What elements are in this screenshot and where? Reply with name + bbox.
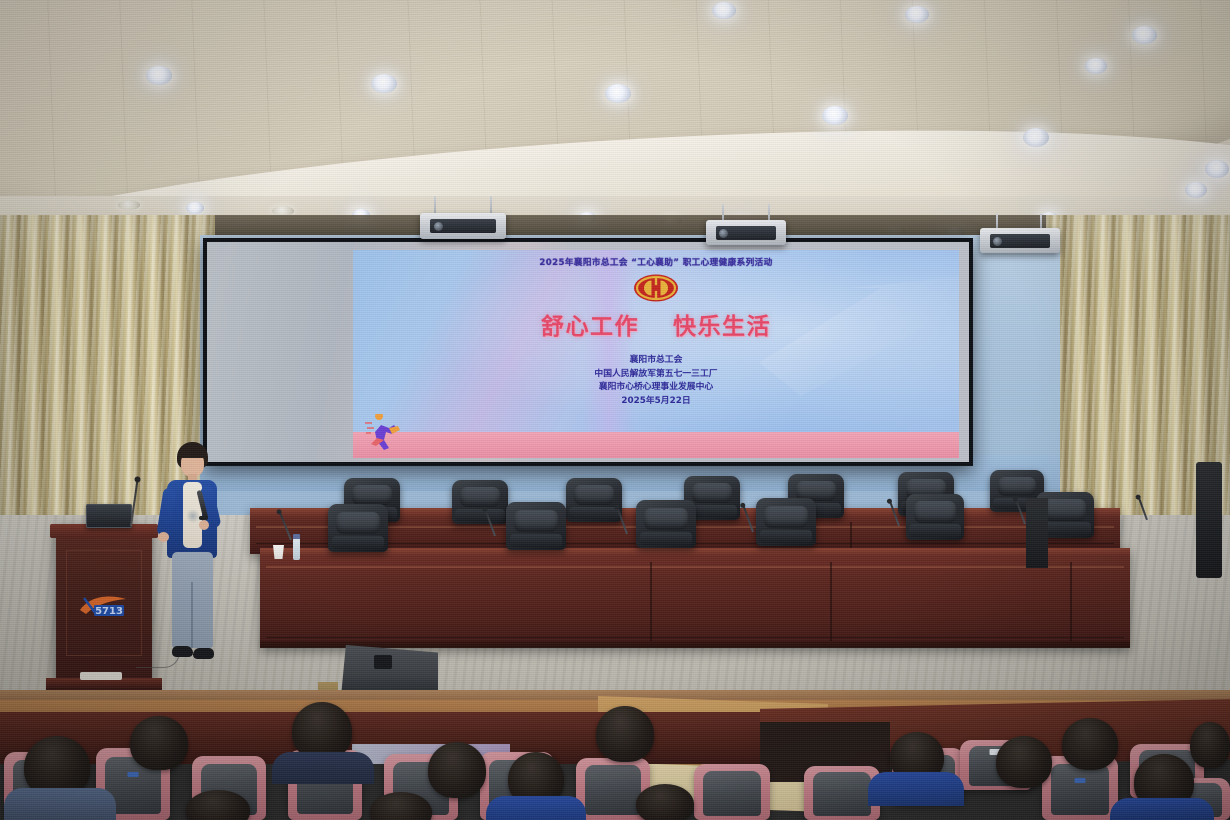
- slide-credits-block: 襄阳市总工会 中国人民解放军第五七一三工厂 襄阳市心桥心理事业发展中心 2025…: [353, 354, 959, 408]
- ceiling-downlight: [146, 66, 172, 85]
- slide-credit-line: 襄阳市总工会: [353, 354, 959, 368]
- bottled-water-cap: [293, 534, 300, 539]
- executive-chair[interactable]: [906, 494, 964, 540]
- seat-back-pad: [1051, 764, 1109, 815]
- chinese-trade-union-emblem-icon: [633, 273, 679, 303]
- audience-shoulders: [1110, 798, 1214, 820]
- audience-head: [596, 706, 654, 762]
- floor-power-strip: [80, 672, 122, 680]
- seat-back-pad: [703, 771, 761, 816]
- projection-screen: 2025年襄阳市总工会 “工心襄助” 职工心理健康系列活动 舒心工作快乐生活 襄…: [203, 238, 973, 466]
- ceiling-downlight: [118, 200, 140, 210]
- audience-head: [130, 716, 188, 770]
- ceiling-downlight: [186, 202, 204, 214]
- desk-baseboard: [260, 641, 1130, 648]
- audience-head: [636, 784, 694, 820]
- slide-title-left: 舒心工作: [541, 314, 639, 340]
- presenter-right-shoe: [193, 648, 214, 659]
- presenter-left-hand: [158, 532, 169, 542]
- projector-lens-icon: [434, 222, 443, 231]
- audience-shoulders: [868, 772, 964, 806]
- executive-chair[interactable]: [566, 478, 622, 522]
- auditorium-photo: 2025年襄阳市总工会 “工心襄助” 职工心理健康系列活动 舒心工作快乐生活 襄…: [0, 0, 1230, 820]
- podium-laptop: [86, 504, 132, 528]
- audience-head: [1062, 718, 1118, 770]
- slide-footer-band: [353, 432, 959, 458]
- slide-main-title: 舒心工作快乐生活: [353, 307, 959, 341]
- ceiling-downlight: [822, 106, 848, 125]
- ceiling-downlight: [905, 6, 929, 23]
- podium-logo-5713-icon: 5713: [74, 594, 134, 620]
- podium-logo-text: 5713: [95, 606, 123, 617]
- audience-shoulders: [272, 752, 374, 784]
- desk-panel-seam: [650, 562, 652, 648]
- desk-panel-seam: [830, 562, 832, 648]
- presenter-right-hand: [199, 520, 209, 530]
- ceiling-downlight: [712, 2, 736, 19]
- presenter-person: [158, 442, 224, 674]
- desk-panel-seam: [1070, 562, 1072, 648]
- presenter-left-shoe: [172, 646, 193, 657]
- bottled-water: [293, 538, 300, 560]
- slide-credit-line: 中国人民解放军第五七一三工厂: [353, 368, 959, 382]
- audience-shoulders: [4, 788, 116, 820]
- seat-back-pad: [585, 765, 641, 815]
- desk-front-panel: [266, 566, 1124, 638]
- speaker-horn-icon: [374, 655, 392, 669]
- ceiling-downlight: [371, 74, 397, 93]
- seat-back-pad: [813, 772, 871, 815]
- ceiling-projector: [420, 213, 506, 239]
- conference-desk-front-row: [260, 548, 1130, 648]
- line-array-speaker-right: [1196, 462, 1222, 578]
- paper-cup: [273, 545, 284, 559]
- ceiling-downlight: [1085, 58, 1107, 74]
- ceiling-downlight: [1205, 160, 1229, 178]
- seat-number-tag: [128, 772, 139, 777]
- presentation-slide: 2025年襄阳市总工会 “工心襄助” 职工心理健康系列活动 舒心工作快乐生活 襄…: [353, 250, 959, 458]
- presenter-trouser-seam: [191, 582, 193, 648]
- line-array-speaker-inner: [1026, 498, 1048, 568]
- slide-credit-line: 2025年5月22日: [353, 395, 959, 409]
- ceiling-downlight: [605, 84, 631, 103]
- presenter-wristwatch: [199, 516, 208, 520]
- presenter-fringe: [178, 446, 207, 458]
- projector-lens-icon: [993, 237, 1002, 246]
- slide-header-text: 2025年襄阳市总工会 “工心襄助” 职工心理健康系列活动: [353, 256, 959, 268]
- seat-number-tag: [1075, 778, 1086, 783]
- executive-chair[interactable]: [636, 500, 696, 548]
- executive-chair[interactable]: [506, 502, 566, 550]
- audience-head: [996, 736, 1052, 788]
- slide-title-right: 快乐生活: [673, 314, 771, 340]
- ceiling-downlight: [1185, 182, 1207, 198]
- auditorium-seat[interactable]: [694, 764, 770, 820]
- projector-lens-icon: [719, 229, 728, 238]
- ceiling-downlight: [1132, 26, 1157, 44]
- executive-chair[interactable]: [756, 498, 816, 546]
- running-figure-icon: [365, 414, 409, 454]
- desk-top-surface: [260, 548, 1130, 557]
- ceiling-projector: [706, 220, 786, 245]
- audience-head: [1190, 722, 1230, 768]
- audience-head: [428, 742, 486, 798]
- slide-credit-line: 襄阳市心桥心理事业发展中心: [353, 381, 959, 395]
- ceiling-downlight: [1023, 128, 1049, 147]
- executive-chair[interactable]: [452, 480, 508, 524]
- executive-chair[interactable]: [328, 504, 388, 552]
- ceiling-projector: [980, 228, 1060, 253]
- presenter-shirt-print: [187, 508, 199, 524]
- audience-shoulders: [486, 796, 586, 820]
